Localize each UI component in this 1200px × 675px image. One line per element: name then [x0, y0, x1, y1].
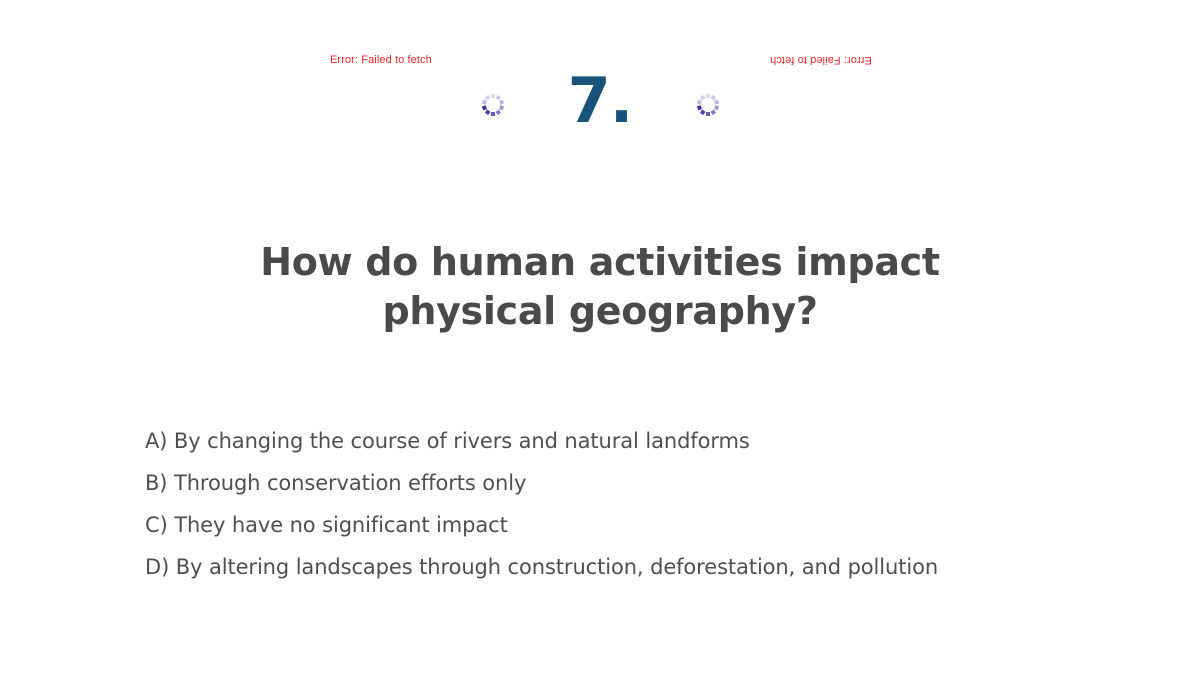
- loading-spinner-right-icon: [697, 94, 719, 116]
- quiz-slide: Error: Failed to fetch Error: Failed to …: [0, 0, 1200, 675]
- answer-options-list: A) By changing the course of rivers and …: [145, 420, 1145, 588]
- spinner-dot: [706, 112, 710, 116]
- spinner-dot: [700, 95, 706, 101]
- answer-option-c[interactable]: C) They have no significant impact: [145, 504, 1145, 546]
- answer-option-d[interactable]: D) By altering landscapes through constr…: [145, 546, 1145, 588]
- answer-option-b[interactable]: B) Through conservation efforts only: [145, 462, 1145, 504]
- spinner-dot: [714, 100, 719, 105]
- spinner-dot: [710, 109, 716, 115]
- error-message-left: Error: Failed to fetch: [330, 54, 432, 66]
- spinner-dot: [714, 105, 719, 110]
- answer-option-a[interactable]: A) By changing the course of rivers and …: [145, 420, 1145, 462]
- error-message-right: Error: Failed to fetch: [770, 54, 872, 66]
- question-title-line-1: How do human activities impact: [150, 238, 1050, 287]
- spinner-dot: [700, 109, 706, 115]
- spinner-dot: [697, 100, 702, 105]
- question-number: 7.: [0, 70, 1200, 132]
- question-title-line-2: physical geography?: [150, 287, 1050, 336]
- question-title: How do human activities impact physical …: [150, 238, 1050, 335]
